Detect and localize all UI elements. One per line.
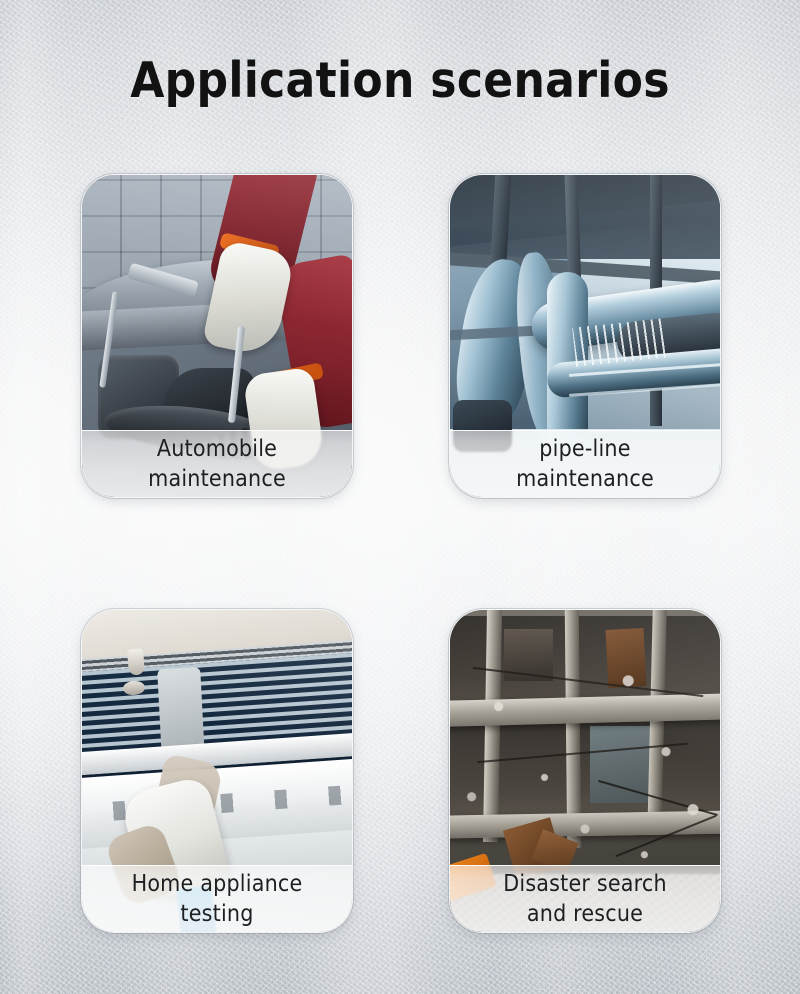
- scenario-card-grid: Automobile maintenance: [82, 175, 720, 932]
- caption-line-1: pipe-line: [539, 434, 630, 464]
- card-caption-home-appliance-testing: Home appliance testing: [82, 865, 352, 932]
- scenario-card-automobile-maintenance[interactable]: Automobile maintenance: [82, 175, 352, 497]
- caption-line-1: Disaster search: [503, 869, 667, 899]
- caption-line-2: maintenance: [516, 464, 654, 494]
- caption-line-2: maintenance: [148, 464, 286, 494]
- sprinkler-head: [127, 648, 145, 675]
- page-title: Application scenarios: [0, 52, 800, 110]
- scenario-card-disaster-search-and-rescue[interactable]: Disaster search and rescue: [450, 610, 720, 932]
- scenario-card-pipe-line-maintenance[interactable]: pipe-line maintenance: [450, 175, 720, 497]
- caption-line-2: and rescue: [527, 899, 643, 929]
- card-caption-pipe-line-maintenance: pipe-line maintenance: [450, 430, 720, 497]
- card-caption-disaster-search-and-rescue: Disaster search and rescue: [450, 865, 720, 932]
- scenario-card-home-appliance-testing[interactable]: Home appliance testing: [82, 610, 352, 932]
- card-caption-automobile-maintenance: Automobile maintenance: [82, 430, 352, 497]
- caption-line-1: Automobile: [157, 434, 277, 464]
- caption-line-1: Home appliance: [132, 869, 303, 899]
- caption-line-2: testing: [180, 899, 253, 929]
